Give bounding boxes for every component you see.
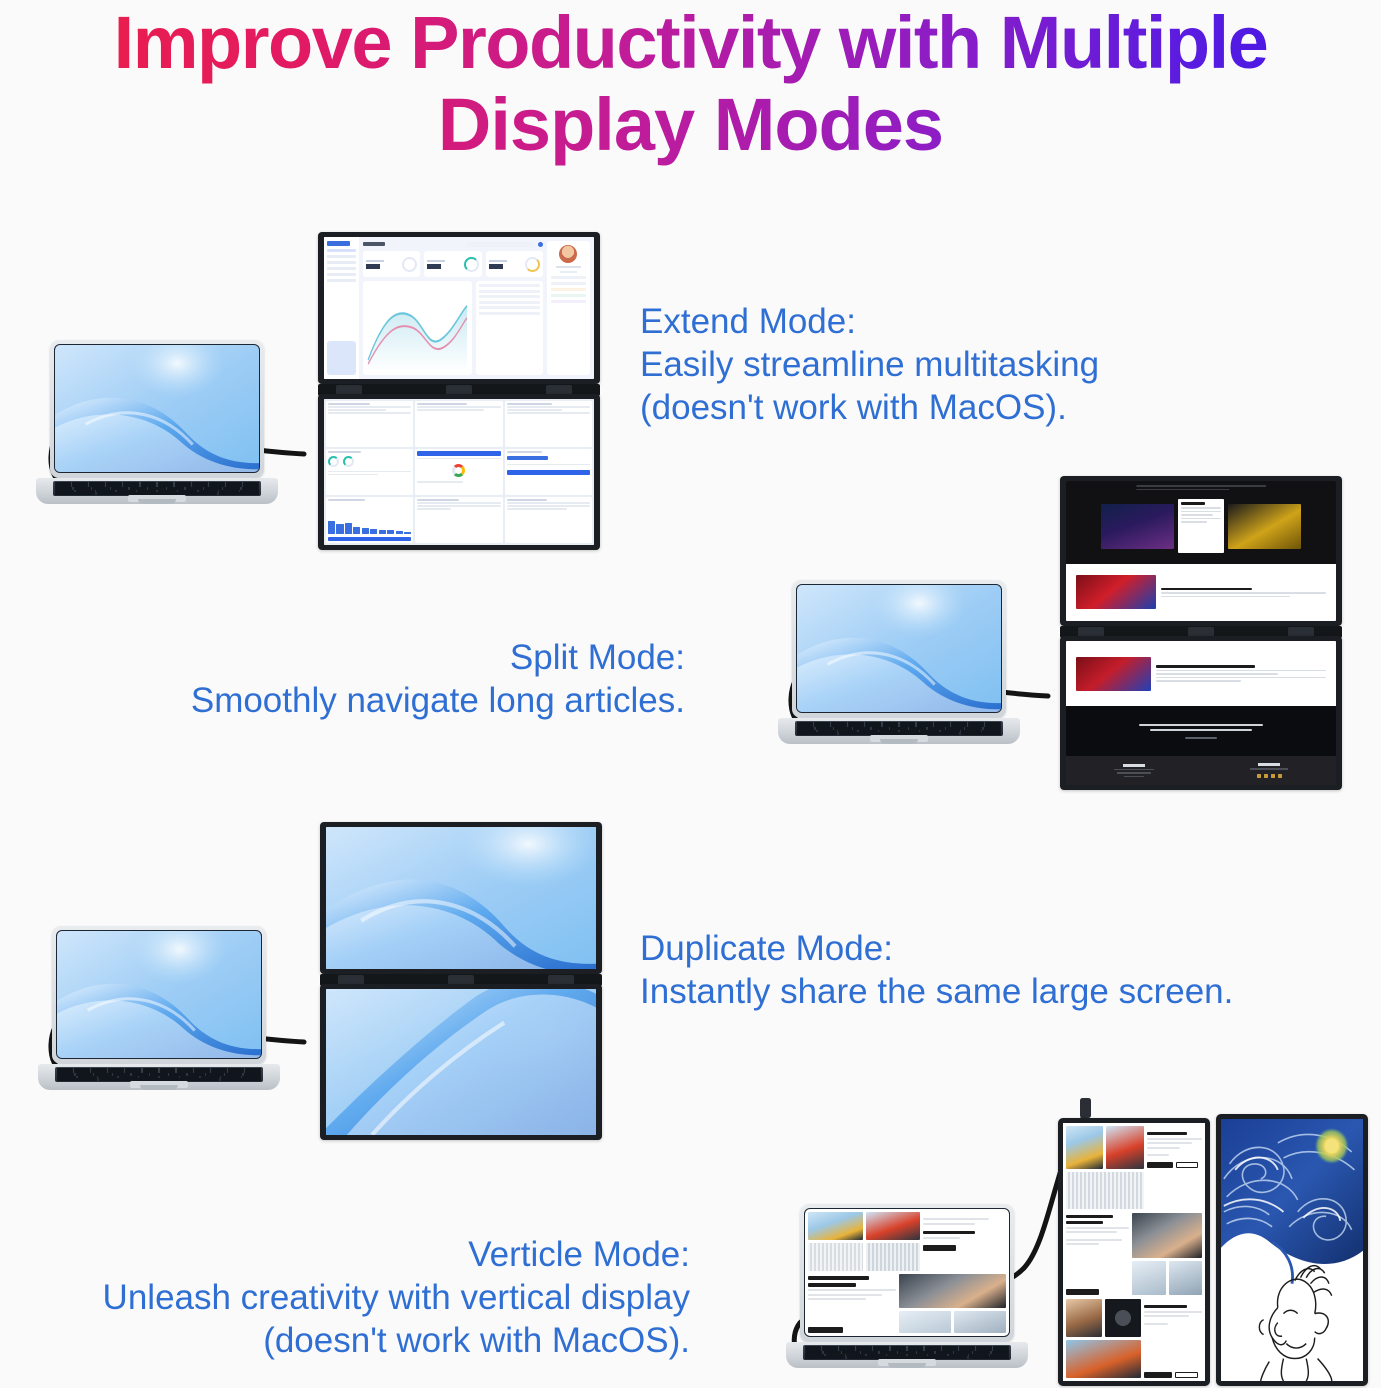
app-window[interactable] — [505, 401, 592, 447]
dashboard-logo — [327, 241, 350, 246]
dark-article-page-top — [1066, 481, 1336, 621]
product-photo — [1066, 1172, 1144, 1208]
laptop-base — [36, 478, 278, 504]
bottom-monitor — [1060, 636, 1342, 790]
product-photo — [866, 1243, 921, 1271]
laptop-base — [38, 1064, 280, 1090]
product-row — [808, 1212, 1006, 1271]
selected-row[interactable] — [507, 470, 590, 475]
dashboard-profile-panel — [547, 241, 590, 375]
add-to-cart-button[interactable] — [923, 1245, 956, 1251]
add-to-cart-button[interactable] — [1144, 1372, 1172, 1378]
dashboard-main — [359, 237, 547, 379]
kpi-card — [363, 251, 420, 277]
laptop-trackpad — [870, 735, 928, 742]
multiple-app-windows — [324, 399, 594, 545]
dual-monitor-stack — [1060, 476, 1342, 790]
extend-mode-heading: Extend Mode: — [640, 300, 1099, 343]
list-item[interactable] — [479, 295, 540, 298]
sidebar-nav-item[interactable] — [327, 279, 356, 282]
laptop-keyboard — [55, 1067, 263, 1082]
app-window[interactable] — [326, 497, 413, 543]
product-photo — [1066, 1299, 1102, 1337]
article-white-band — [1066, 641, 1336, 706]
laptop-lid — [52, 926, 266, 1064]
caption-extend-mode: Extend Mode: Easily streamline multitask… — [640, 300, 1099, 429]
laptop-screen — [796, 584, 1002, 713]
product-photo — [1066, 1126, 1103, 1169]
app-window[interactable] — [326, 449, 413, 495]
caption-vertical-mode: Verticle Mode: Unleash creativity with v… — [0, 1233, 690, 1362]
product-row — [1066, 1213, 1202, 1296]
product-row — [808, 1274, 1006, 1333]
product-photo — [954, 1311, 1006, 1333]
vertical-mode-line1: Unleash creativity with vertical display — [0, 1276, 690, 1319]
bottom-monitor-screen — [1066, 641, 1336, 785]
ski-product-page — [805, 1209, 1009, 1336]
article-white-band — [1066, 564, 1336, 621]
duplicate-mode-heading: Duplicate Mode: — [640, 927, 1233, 970]
product-photo — [1105, 1299, 1141, 1337]
laptop-device — [792, 580, 1006, 718]
right-portrait-monitor — [1216, 1114, 1368, 1386]
add-to-cart-button[interactable] — [1147, 1162, 1173, 1168]
laptop-screen — [804, 1208, 1010, 1337]
kpi-card-row — [363, 251, 543, 277]
list-item[interactable] — [479, 284, 540, 287]
top-monitor-screen — [1066, 481, 1336, 621]
product-photo — [1106, 1126, 1143, 1169]
bottom-monitor-screen — [326, 989, 596, 1135]
app-window[interactable] — [326, 401, 413, 447]
laptop-device — [52, 926, 266, 1064]
product-photo — [899, 1274, 1006, 1308]
dashboard-sidebar — [324, 237, 359, 379]
buy-button[interactable] — [1066, 1289, 1099, 1295]
extend-mode-line1: Easily streamline multitasking — [640, 343, 1099, 386]
vertical-mode-line2: (doesn't work with MacOS). — [0, 1319, 690, 1362]
bar-chart — [328, 520, 411, 534]
product-title — [1144, 1305, 1187, 1308]
sidebar-nav-item[interactable] — [327, 267, 356, 270]
product-title — [923, 1231, 974, 1234]
dual-monitor-stack — [318, 232, 600, 550]
scene-extend-mode — [42, 232, 602, 552]
wallpaper-blue-wave — [55, 345, 259, 472]
product-info — [1144, 1299, 1202, 1378]
dual-monitor-stack — [320, 822, 602, 1140]
app-window[interactable] — [415, 401, 502, 447]
vertical-mode-heading: Verticle Mode: — [0, 1233, 690, 1276]
bottom-monitor-screen — [324, 399, 594, 545]
bottom-monitor — [320, 984, 602, 1140]
product-info — [1147, 1126, 1202, 1209]
scene-duplicate-mode — [42, 822, 602, 1142]
article-hero — [1066, 481, 1336, 564]
laptop-lid — [792, 580, 1006, 718]
product-photo — [808, 1212, 863, 1240]
top-monitor — [318, 232, 600, 384]
dashboard-lower — [363, 281, 543, 375]
product-info — [808, 1274, 896, 1333]
sidebar-nav-item[interactable] — [327, 261, 356, 264]
laptop-trackpad — [130, 1081, 188, 1088]
ski-product-page-tall — [1063, 1123, 1205, 1381]
bottom-monitor — [318, 394, 600, 550]
product-photo — [866, 1212, 921, 1240]
extend-mode-line2: (doesn't work with MacOS). — [640, 386, 1099, 429]
starry-night-artwork — [1221, 1119, 1363, 1381]
product-info — [923, 1212, 1006, 1271]
product-photo — [1132, 1213, 1202, 1258]
laptop-trackpad — [878, 1359, 936, 1366]
sidebar-nav-item[interactable] — [327, 249, 356, 252]
product-photo — [1132, 1261, 1165, 1296]
activity-list-panel — [476, 281, 543, 375]
app-window[interactable] — [415, 449, 502, 495]
app-window[interactable] — [415, 497, 502, 543]
product-row — [1066, 1299, 1202, 1378]
laptop-lid — [800, 1204, 1014, 1342]
app-window[interactable] — [505, 497, 592, 543]
right-portrait-screen — [1221, 1119, 1363, 1381]
highlighted-row[interactable] — [417, 451, 500, 456]
article-text-card — [1178, 499, 1225, 553]
dashboard-topbar — [363, 241, 543, 247]
wallpaper-blue-wave — [797, 585, 1001, 712]
infographic-page: Improve Productivity with Multiple Displ… — [0, 0, 1381, 1388]
product-row — [1066, 1126, 1202, 1209]
laptop-keyboard — [795, 721, 1003, 736]
article-footer — [1066, 756, 1336, 785]
sidebar-promo-card[interactable] — [327, 341, 356, 375]
app-window[interactable] — [505, 449, 592, 495]
laptop-base — [778, 718, 1020, 744]
sidebar-nav-item[interactable] — [327, 273, 356, 276]
top-monitor-screen — [324, 237, 594, 379]
product-title — [1147, 1132, 1187, 1135]
left-portrait-screen — [1063, 1123, 1205, 1381]
laptop-device — [50, 340, 264, 478]
caption-duplicate-mode: Duplicate Mode: Instantly share the same… — [640, 927, 1233, 1013]
line-chart-panel — [363, 281, 472, 375]
kpi-card — [486, 251, 543, 277]
split-mode-heading: Split Mode: — [100, 636, 685, 679]
split-mode-line1: Smoothly navigate long articles. — [100, 679, 685, 722]
top-monitor-screen — [326, 827, 596, 969]
top-monitor — [1060, 476, 1342, 626]
laptop-screen — [56, 930, 262, 1059]
buy-button[interactable] — [808, 1327, 843, 1333]
sidebar-nav-item[interactable] — [327, 255, 356, 258]
list-item[interactable] — [479, 290, 540, 293]
product-photo — [808, 1243, 863, 1271]
laptop-lid — [50, 340, 264, 478]
laptop-base — [786, 1342, 1028, 1368]
wallpaper-blue-wave — [326, 989, 596, 1135]
list-item[interactable] — [479, 301, 540, 304]
scene-split-mode — [782, 462, 1342, 792]
kpi-card — [424, 251, 481, 277]
article-quote-band — [1066, 706, 1336, 756]
laptop-trackpad — [128, 495, 186, 502]
dashboard-search-input[interactable] — [466, 242, 534, 247]
laptop-device — [800, 1204, 1014, 1342]
laptop-keyboard — [803, 1345, 1011, 1360]
dark-article-page-bottom — [1066, 641, 1336, 785]
product-photo — [1169, 1261, 1202, 1296]
list-item[interactable] — [479, 312, 540, 315]
duplicate-mode-line1: Instantly share the same large screen. — [640, 970, 1233, 1013]
caption-split-mode: Split Mode: Smoothly navigate long artic… — [100, 636, 685, 722]
analytics-dashboard — [324, 237, 594, 379]
list-item[interactable] — [479, 306, 540, 309]
top-monitor — [320, 822, 602, 974]
product-photo — [899, 1311, 951, 1333]
wallpaper-blue-wave — [326, 827, 596, 969]
laptop-keyboard — [53, 481, 261, 496]
avatar — [559, 245, 577, 263]
article-image — [1228, 504, 1301, 549]
scene-vertical-mode — [788, 1092, 1373, 1388]
product-info — [1066, 1213, 1129, 1296]
title-line-1: Improve Productivity with Multiple — [0, 2, 1381, 84]
title-line-2: Display Modes — [0, 84, 1381, 166]
page-title: Improve Productivity with Multiple Displ… — [0, 2, 1381, 166]
left-portrait-monitor — [1058, 1118, 1210, 1386]
product-photo — [1066, 1340, 1141, 1378]
wallpaper-blue-wave — [57, 931, 261, 1058]
article-image — [1101, 504, 1174, 549]
laptop-screen — [54, 344, 260, 473]
